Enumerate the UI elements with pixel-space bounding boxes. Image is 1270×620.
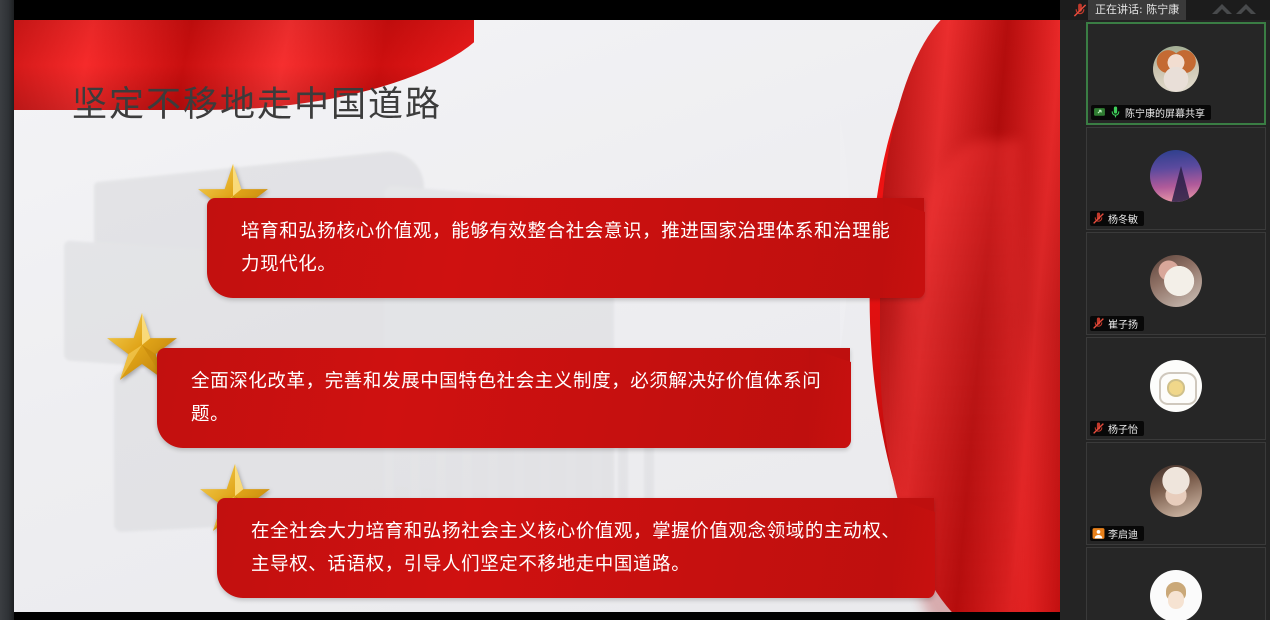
slide-callout-text-3: 在全社会大力培育和弘扬社会主义核心价值观，掌握价值观念领域的主动权、主导权、话语…: [251, 515, 912, 581]
bottom-letterbox: [14, 612, 1060, 620]
participant-tile[interactable]: 应用统计20224156孙天池: [1086, 547, 1266, 620]
avatar: [1153, 46, 1199, 92]
screen-share-icon: [1093, 106, 1106, 119]
speaking-label: 正在讲话: 陈宁康: [1088, 0, 1186, 20]
presentation-slide: 坚定不移地走中国道路: [14, 20, 1060, 612]
name-chip: 杨子怡: [1090, 421, 1144, 436]
mic-muted-icon: [1092, 422, 1105, 435]
top-letterbox: [14, 0, 1060, 20]
avatar: [1150, 150, 1202, 202]
active-speaker-header: 正在讲话: 陈宁康: [1060, 0, 1270, 20]
slide-callout-box-2: 全面深化改革，完善和发展中国特色社会主义制度，必须解决好价值体系问题。: [157, 348, 850, 448]
zoom-meeting-window: 坚定不移地走中国道路: [0, 0, 1270, 620]
avatar: [1150, 255, 1202, 307]
participant-name: 崔子扬: [1108, 316, 1138, 331]
mic-on-icon: [1109, 106, 1122, 119]
avatar: [1150, 570, 1202, 620]
participant-tile[interactable]: 崔子扬: [1086, 232, 1266, 335]
participant-name: 杨子怡: [1108, 421, 1138, 436]
left-rail: [0, 0, 14, 620]
participant-tiles[interactable]: 陈宁康的屏幕共享 杨冬敏: [1060, 20, 1270, 620]
double-chevron-icon[interactable]: [1208, 2, 1264, 18]
participant-name: 陈宁康的屏幕共享: [1125, 105, 1205, 120]
slide-title: 坚定不移地走中国道路: [72, 76, 442, 127]
participant-tile[interactable]: 陈宁康的屏幕共享: [1086, 22, 1266, 125]
name-chip: 杨冬敏: [1090, 211, 1144, 226]
name-chip: 李启迪: [1090, 526, 1144, 541]
name-chip: 崔子扬: [1090, 316, 1144, 331]
participant-tile[interactable]: 杨子怡: [1086, 337, 1266, 440]
participants-panel: 正在讲话: 陈宁康: [1060, 0, 1270, 620]
mic-muted-icon: [1072, 3, 1088, 18]
slide-callout-text-2: 全面深化改革，完善和发展中国特色社会主义制度，必须解决好价值体系问题。: [191, 365, 828, 431]
participant-name: 杨冬敏: [1108, 211, 1138, 226]
avatar: [1150, 360, 1202, 412]
mic-muted-icon: [1092, 212, 1105, 225]
mic-muted-icon: [1092, 317, 1105, 330]
participant-name: 李启迪: [1108, 526, 1138, 541]
participant-tile[interactable]: 杨冬敏: [1086, 127, 1266, 230]
shared-screen-area[interactable]: 坚定不移地走中国道路: [14, 20, 1060, 612]
avatar: [1150, 465, 1202, 517]
host-person-icon: [1092, 527, 1105, 540]
name-chip: 陈宁康的屏幕共享: [1091, 105, 1211, 120]
slide-callout-box-3: 在全社会大力培育和弘扬社会主义核心价值观，掌握价值观念领域的主动权、主导权、话语…: [217, 498, 934, 598]
participant-tile[interactable]: 李启迪: [1086, 442, 1266, 545]
slide-callout-text-1: 培育和弘扬核心价值观，能够有效整合社会意识，推进国家治理体系和治理能力现代化。: [241, 215, 902, 281]
slide-callout-box-1: 培育和弘扬核心价值观，能够有效整合社会意识，推进国家治理体系和治理能力现代化。: [207, 198, 924, 298]
